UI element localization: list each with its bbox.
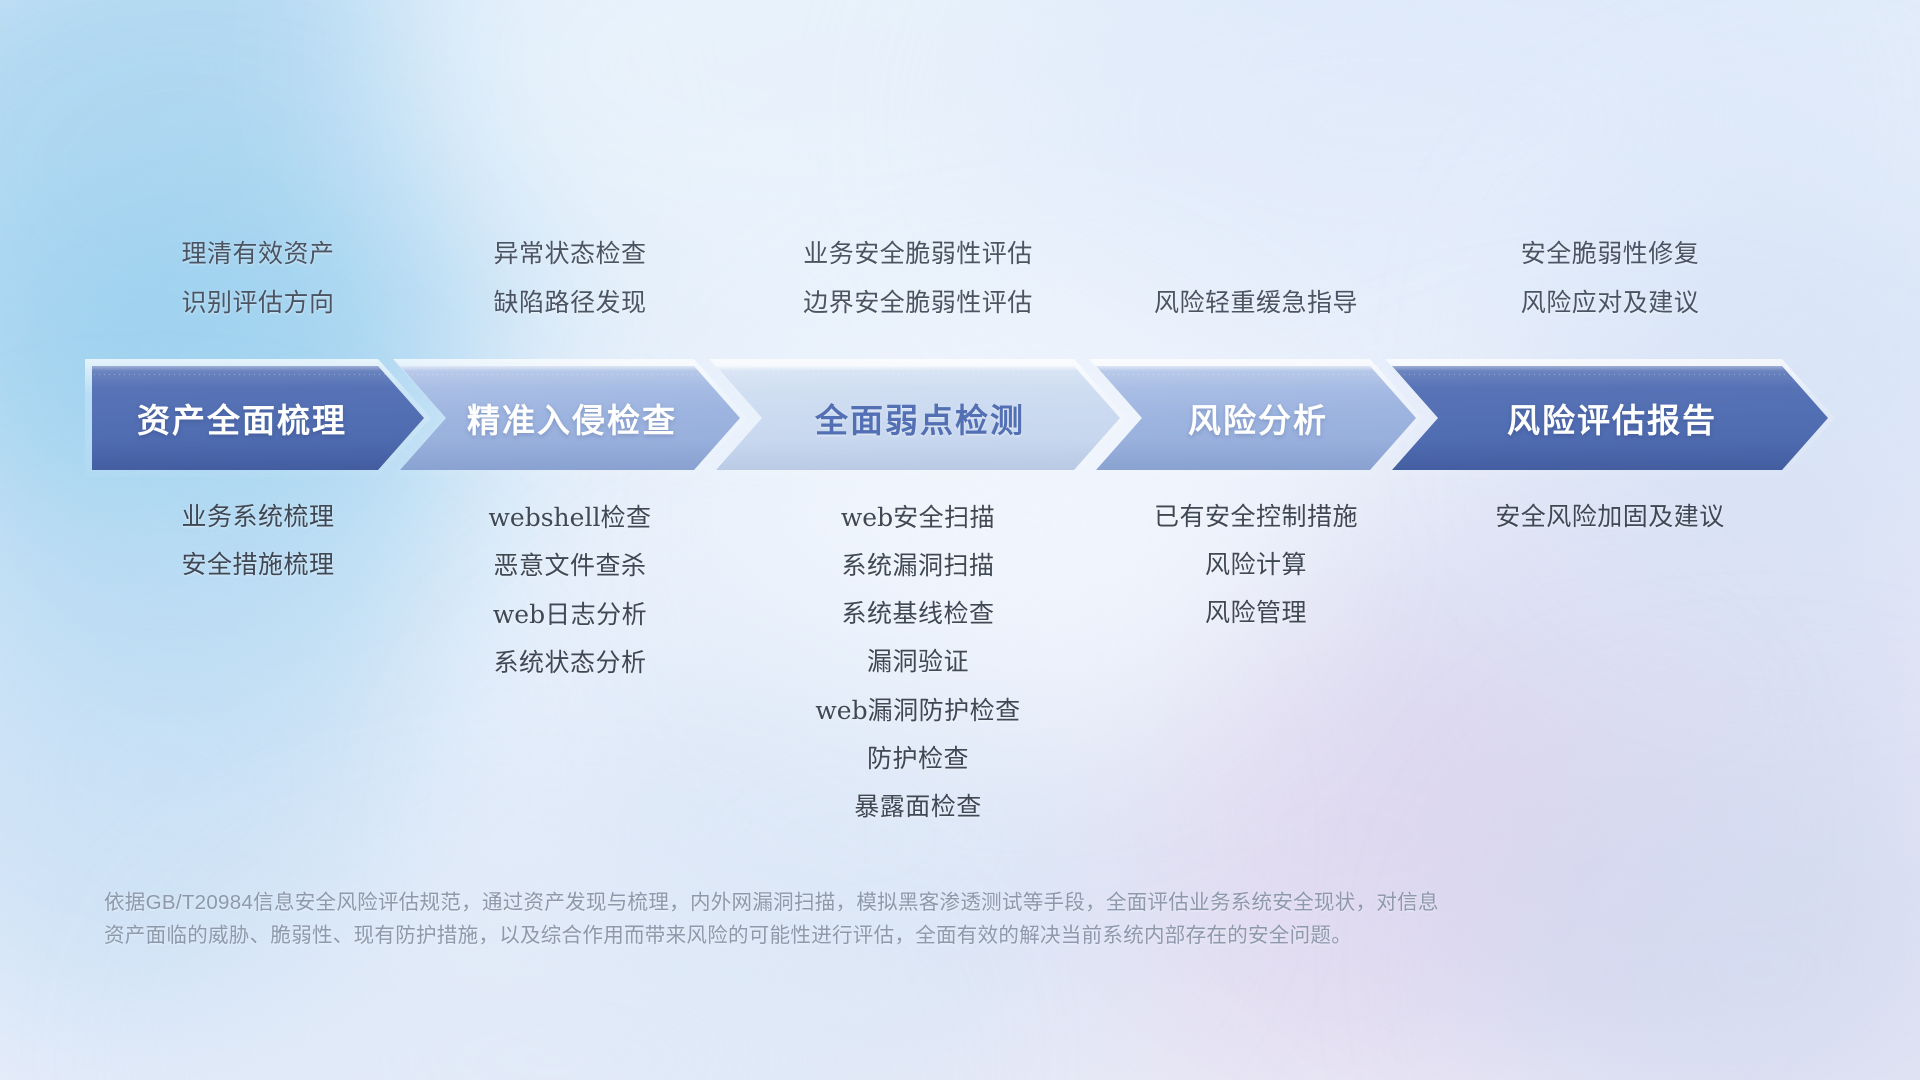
- stage-detail-text: 系统漏洞扫描: [841, 552, 994, 580]
- stage-detail-text: 风险管理: [1205, 599, 1307, 627]
- footer-line-2: 资产面临的威胁、脆弱性、现有防护措施，以及综合作用而带来风险的可能性进行评估，全…: [104, 919, 1624, 952]
- stage-detail-item: 缺陷路径发现: [493, 291, 646, 316]
- stage-detail-item: 系统基线检查: [841, 602, 994, 627]
- stage-detail-text: 已有安全控制措施: [1154, 503, 1358, 531]
- stage-detail-item: 风险应对及建议: [1521, 291, 1700, 316]
- stage-detail-text: 暴露面检查: [854, 793, 982, 821]
- stage-detail-item: 漏洞验证: [867, 650, 969, 675]
- stage-detail-text: 安全扫描: [893, 504, 995, 532]
- stage-column-risk-report: 安全脆弱性修复风险应对及建议: [1392, 242, 1828, 340]
- stage-detail-item: 安全脆弱性修复: [1521, 242, 1700, 267]
- process-diagram: 理清有效资产识别评估方向异常状态检查缺陷路径发现业务安全脆弱性评估边界安全脆弱性…: [0, 0, 1920, 1080]
- chevron-stage-weakness-detection[interactable]: 全面弱点检测: [716, 366, 1120, 470]
- stage-detail-text: 漏洞防护检查: [868, 697, 1021, 725]
- stage-column-risk-analysis: 风险轻重缓急指导: [1096, 291, 1416, 340]
- stage-detail-text: 系统状态分析: [493, 649, 646, 677]
- stage-column-asset-inventory: 业务系统梳理安全措施梳理: [92, 505, 424, 601]
- stage-column-intrusion-check: 异常状态检查缺陷路径发现: [400, 242, 740, 340]
- stage-detail-item: 业务系统梳理: [181, 505, 334, 530]
- stage-detail-item: 风险轻重缓急指导: [1154, 291, 1358, 316]
- chevron-stage-risk-report[interactable]: 风险评估报告: [1392, 366, 1828, 470]
- stage-column-risk-report: 安全风险加固及建议: [1392, 505, 1828, 553]
- chevron-stage-asset-inventory[interactable]: 资产全面梳理: [92, 366, 424, 470]
- stage-detail-item: 风险计算: [1205, 553, 1307, 578]
- stage-detail-text: 安全措施梳理: [181, 551, 334, 579]
- stage-column-intrusion-check: webshell检查恶意文件查杀web日志分析系统状态分析: [400, 505, 740, 699]
- stage-detail-text: 漏洞验证: [867, 648, 969, 676]
- stage-detail-latin: web: [841, 503, 893, 532]
- chevron-stage-intrusion-check[interactable]: 精准入侵检查: [400, 366, 740, 470]
- stage-detail-text: 风险计算: [1205, 551, 1307, 579]
- chevron-label: 风险评估报告: [1392, 394, 1828, 442]
- stage-column-asset-inventory: 理清有效资产识别评估方向: [92, 242, 424, 340]
- stage-detail-item: 识别评估方向: [181, 291, 334, 316]
- stage-detail-item: 系统漏洞扫描: [841, 554, 994, 579]
- chevron-label: 精准入侵检查: [400, 394, 740, 442]
- stage-detail-text: 系统基线检查: [841, 600, 994, 628]
- stage-detail-item: 防护检查: [867, 747, 969, 772]
- stage-bottom-labels-row: 业务系统梳理安全措施梳理webshell检查恶意文件查杀web日志分析系统状态分…: [0, 505, 1920, 845]
- footer-description: 依据GB/T20984信息安全风险评估规范，通过资产发现与梳理，内外网漏洞扫描，…: [104, 886, 1624, 952]
- stage-detail-latin: web: [815, 696, 867, 725]
- stage-detail-item: 已有安全控制措施: [1154, 505, 1358, 530]
- chevron-stage-risk-analysis[interactable]: 风险分析: [1096, 366, 1416, 470]
- stage-detail-item: 异常状态检查: [493, 242, 646, 267]
- chevron-label: 全面弱点检测: [716, 394, 1120, 442]
- stage-detail-text: 日志分析: [545, 601, 647, 629]
- stage-detail-text: 防护检查: [867, 745, 969, 773]
- stage-detail-item: webshell检查: [489, 505, 652, 531]
- stage-detail-latin: webshell: [489, 503, 601, 532]
- chevron-band: 资产全面梳理精准入侵检查全面弱点检测风险分析风险评估报告: [0, 366, 1920, 470]
- stage-detail-item: 安全风险加固及建议: [1495, 505, 1725, 530]
- stage-detail-latin: web: [493, 600, 545, 629]
- stage-detail-item: web漏洞防护检查: [815, 698, 1020, 724]
- stage-column-weakness-detection: 业务安全脆弱性评估边界安全脆弱性评估: [716, 242, 1120, 340]
- chevron-label: 风险分析: [1096, 394, 1416, 442]
- stage-detail-item: 理清有效资产: [181, 242, 334, 267]
- stage-column-weakness-detection: web安全扫描系统漏洞扫描系统基线检查漏洞验证web漏洞防护检查防护检查暴露面检…: [716, 505, 1120, 843]
- stage-detail-item: 业务安全脆弱性评估: [803, 242, 1033, 267]
- footer-line-1: 依据GB/T20984信息安全风险评估规范，通过资产发现与梳理，内外网漏洞扫描，…: [104, 886, 1624, 919]
- stage-detail-item: 暴露面检查: [854, 795, 982, 820]
- stage-detail-text: 业务系统梳理: [181, 503, 334, 531]
- stage-detail-item: 风险管理: [1205, 601, 1307, 626]
- stage-top-labels-row: 理清有效资产识别评估方向异常状态检查缺陷路径发现业务安全脆弱性评估边界安全脆弱性…: [0, 228, 1920, 340]
- stage-detail-text: 安全风险加固及建议: [1495, 503, 1725, 531]
- stage-detail-item: 系统状态分析: [493, 651, 646, 676]
- stage-detail-item: web日志分析: [493, 602, 647, 628]
- stage-detail-item: 边界安全脆弱性评估: [803, 291, 1033, 316]
- stage-detail-text: 检查: [600, 504, 651, 532]
- chevron-label: 资产全面梳理: [92, 394, 424, 442]
- stage-detail-item: web安全扫描: [841, 505, 995, 531]
- stage-detail-item: 恶意文件查杀: [493, 554, 646, 579]
- stage-detail-text: 恶意文件查杀: [493, 552, 646, 580]
- stage-detail-item: 安全措施梳理: [181, 553, 334, 578]
- stage-column-risk-analysis: 已有安全控制措施风险计算风险管理: [1096, 505, 1416, 649]
